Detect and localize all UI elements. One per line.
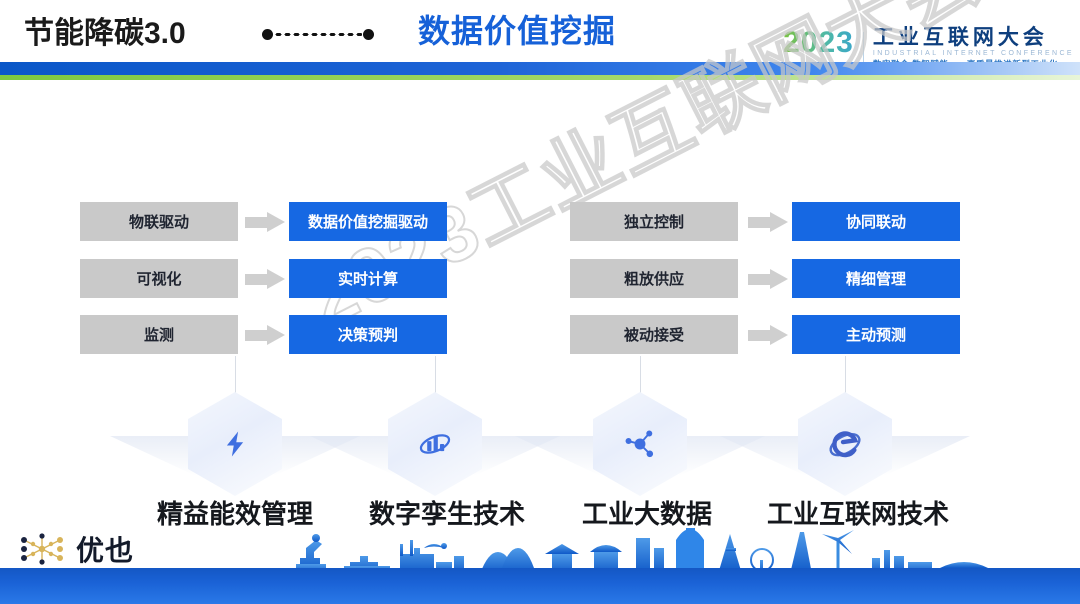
pillar-hexagon bbox=[593, 392, 687, 496]
dot-matrix-logo-icon bbox=[14, 532, 70, 566]
hex-wing-right bbox=[884, 436, 970, 476]
right-arrow-icon bbox=[748, 212, 788, 232]
right-arrow-icon bbox=[748, 325, 788, 345]
flow-source-box: 被动接受 bbox=[570, 315, 738, 354]
flow-target-box: 实时计算 bbox=[289, 259, 447, 298]
right-arrow-icon bbox=[245, 212, 285, 232]
skyline-illustration bbox=[0, 518, 1080, 574]
right-arrow-icon bbox=[245, 325, 285, 345]
flow-source-box: 监测 bbox=[80, 315, 238, 354]
hex-wing-left bbox=[110, 436, 196, 476]
flow-source-box: 粗放供应 bbox=[570, 259, 738, 298]
flow-target-box: 主动预测 bbox=[792, 315, 960, 354]
flow-target-box: 决策预判 bbox=[289, 315, 447, 354]
digital-twin-icon bbox=[388, 420, 482, 468]
flow-source-box: 可视化 bbox=[80, 259, 238, 298]
flow-target-box: 精细管理 bbox=[792, 259, 960, 298]
network-nodes-icon bbox=[593, 420, 687, 468]
hex-wing-left bbox=[515, 436, 601, 476]
pillar-hexagon bbox=[798, 392, 892, 496]
brand-logo: 优也 bbox=[14, 528, 134, 570]
slide-canvas: 节能降碳3.0 数据价值挖掘 2023 中国 苏州 9月14日-16日 工业互联… bbox=[0, 0, 1080, 604]
flow-diagram: 物联驱动 数据价值挖掘驱动 可视化 实时计算 监测 决策预判 独立控制 协同联动… bbox=[0, 0, 1080, 604]
right-arrow-icon bbox=[748, 269, 788, 289]
pillar-hexagon bbox=[188, 392, 282, 496]
pillar-hexagon bbox=[388, 392, 482, 496]
brand-name: 优也 bbox=[76, 529, 134, 569]
footer-band bbox=[0, 568, 1080, 604]
lightning-bolt-icon bbox=[188, 420, 282, 468]
flow-source-box: 独立控制 bbox=[570, 202, 738, 241]
flow-target-box: 数据价值挖掘驱动 bbox=[289, 202, 447, 241]
internet-e-icon bbox=[798, 420, 892, 468]
flow-target-box: 协同联动 bbox=[792, 202, 960, 241]
flow-source-box: 物联驱动 bbox=[80, 202, 238, 241]
hex-wing-left bbox=[720, 436, 806, 476]
right-arrow-icon bbox=[245, 269, 285, 289]
